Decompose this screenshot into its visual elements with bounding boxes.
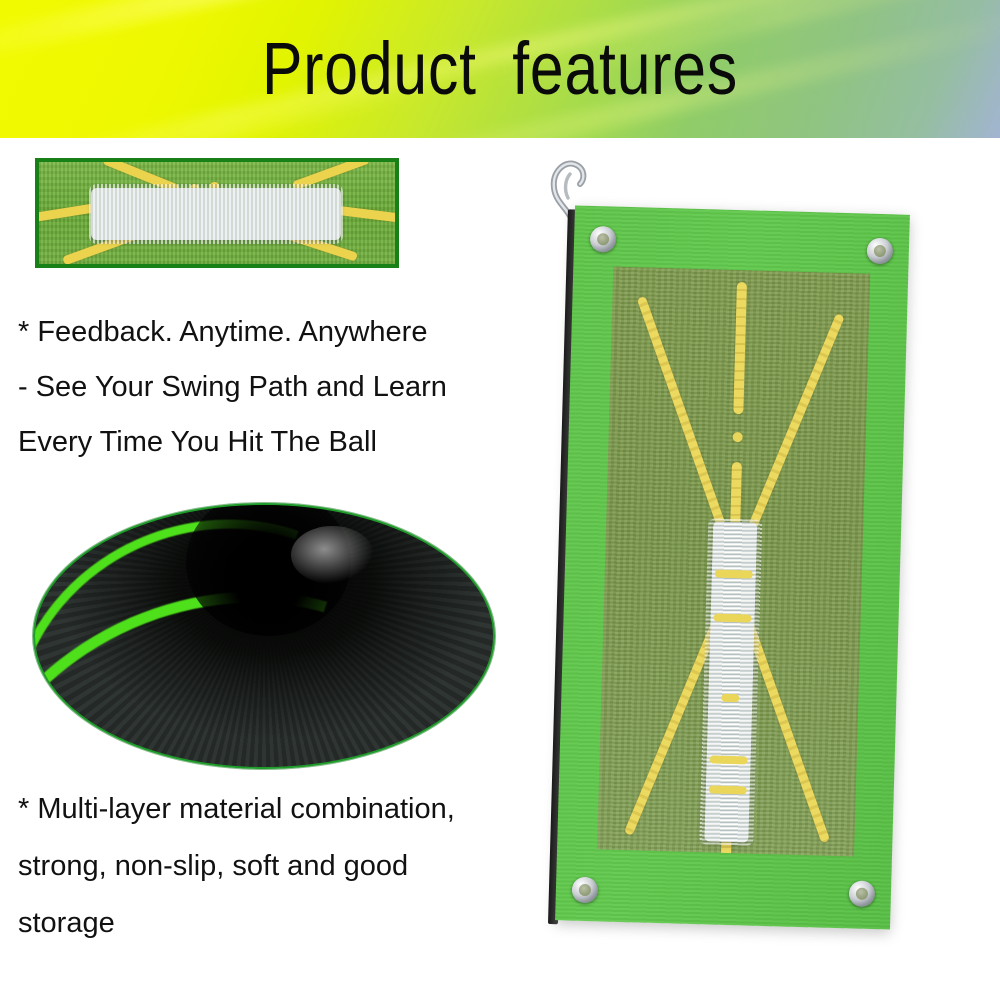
page-title: Product features <box>90 0 910 138</box>
material-layers-closeup-photo <box>33 503 495 769</box>
material-line-2: strong, non-slip, soft and good <box>18 852 455 881</box>
center-alignment-line <box>733 282 747 414</box>
swing-path-closeup-photo <box>35 158 399 268</box>
feedback-line-2: - See Your Swing Path and Learn <box>18 373 447 402</box>
feedback-line-3: Every Time You Hit The Ball <box>18 428 447 457</box>
material-line-1: * Multi-layer material combination, <box>18 795 455 824</box>
feedback-line-1: * Feedback. Anytime. Anywhere <box>18 318 447 347</box>
header-banner: Product features <box>0 0 1000 138</box>
center-alignment-dot <box>732 432 742 442</box>
strip-mark <box>714 569 752 578</box>
strike-strip <box>91 188 341 240</box>
mat-turf-area <box>597 267 870 857</box>
strip-mark <box>713 613 751 622</box>
feedback-text-block: * Feedback. Anytime. Anywhere - See Your… <box>18 318 447 483</box>
mat-body <box>555 205 910 929</box>
golf-swing-mat-photo <box>520 150 940 950</box>
strip-mark <box>721 694 739 702</box>
material-line-3: storage <box>18 909 455 938</box>
material-text-block: * Multi-layer material combination, stro… <box>18 795 455 966</box>
strip-mark <box>709 755 747 764</box>
strip-mark <box>708 785 746 794</box>
specular-highlight <box>291 526 373 584</box>
